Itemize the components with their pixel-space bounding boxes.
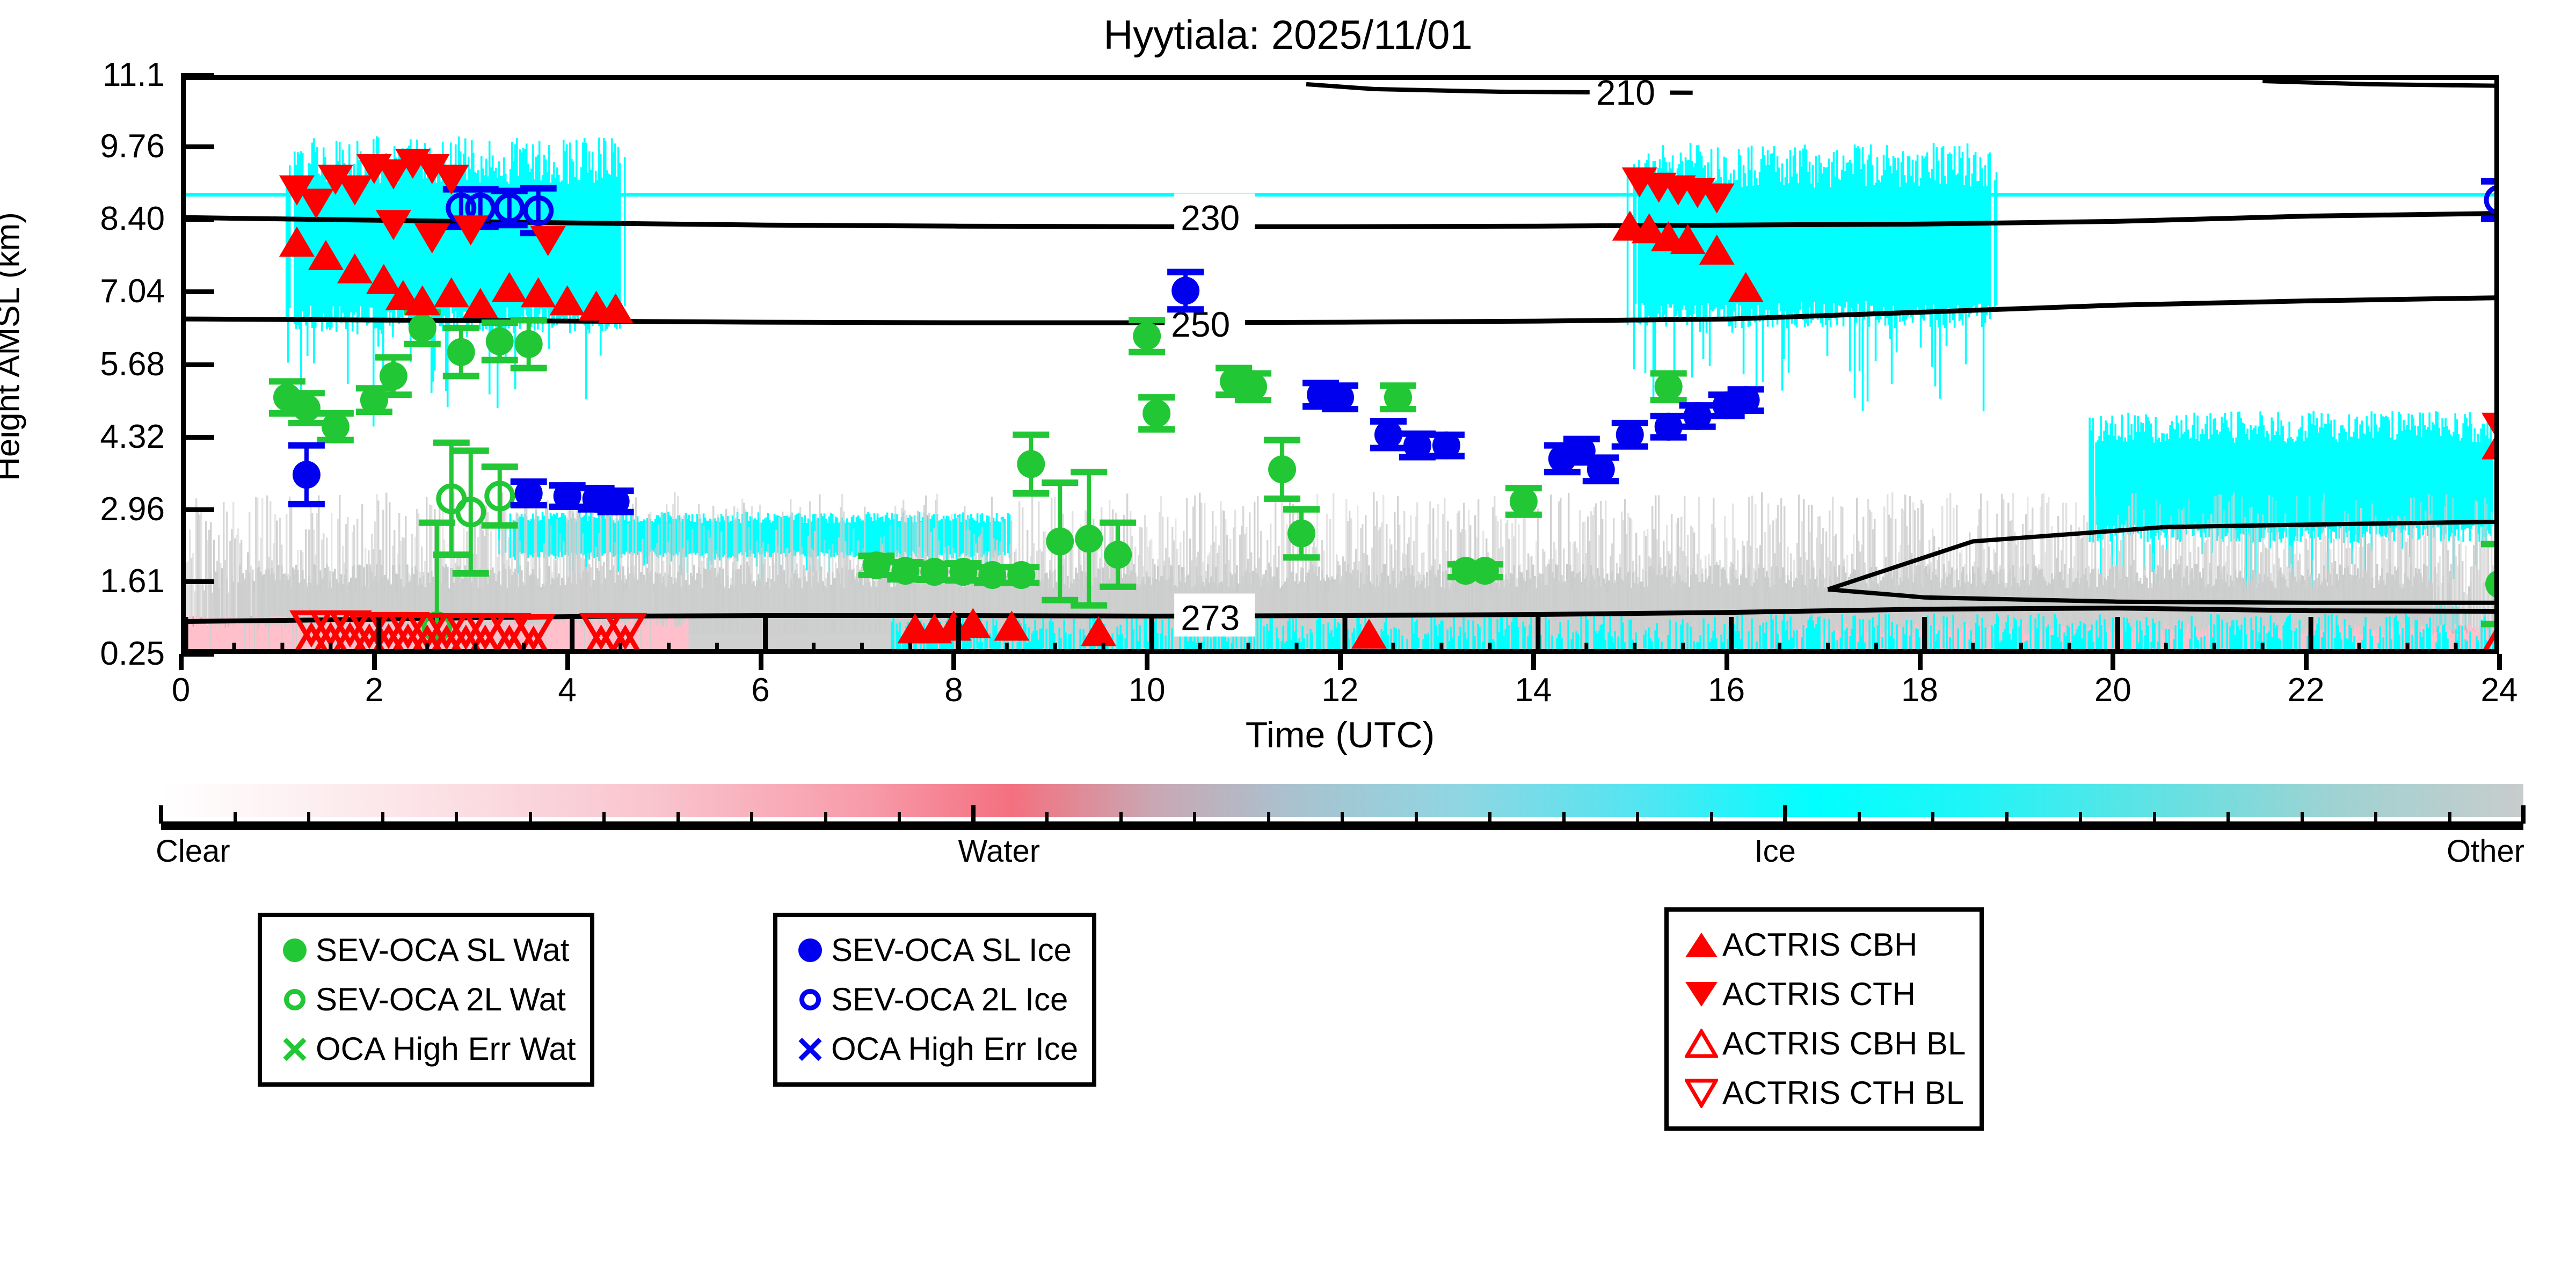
legend-label: OCA High Err Wat [316, 1033, 576, 1065]
y-axis-label: 2.96 [4, 493, 165, 526]
legend-label: ACTRIS CBH [1722, 929, 1917, 961]
colorbar-tick [1636, 812, 1639, 824]
colorbar-tick [1045, 812, 1049, 824]
legend-label: OCA High Err Ice [831, 1033, 1078, 1065]
triangle-up-icon [1685, 933, 1718, 957]
figure-root: Hyytiala: 2025/11/01 210230250273 11.19.… [0, 0, 2576, 1288]
legend-item[interactable]: SEV-OCA 2L Wat [274, 975, 576, 1024]
colorbar: ClearWaterIceOther [161, 784, 2523, 854]
x-axis-tick [1145, 654, 1149, 670]
x-axis-tick [759, 654, 763, 670]
x-axis-label: 12 [1286, 671, 1394, 710]
colorbar-label: Other [2447, 833, 2524, 869]
x-axis-label: 0 [127, 671, 235, 710]
plot-canvas: 210230250273 [186, 80, 2494, 649]
colorbar-tick [1858, 812, 1861, 824]
open-circle-icon [284, 989, 305, 1010]
legend-item[interactable]: SEV-OCA SL Wat [274, 926, 576, 975]
legend-label: ACTRIS CTH BL [1722, 1077, 1964, 1109]
water-legend[interactable]: SEV-OCA SL WatSEV-OCA 2L WatOCA High Err… [258, 913, 594, 1087]
y-axis-label: 9.76 [4, 130, 165, 163]
x-axis-label: 4 [514, 671, 621, 710]
y-axis-label: 11.1 [4, 59, 165, 92]
legend-item[interactable]: ACTRIS CBH [1680, 920, 1966, 970]
colorbar-tick [1710, 812, 1713, 824]
x-axis-tick [2497, 654, 2502, 670]
x-axis-tick [1724, 654, 1729, 670]
legend-item[interactable]: ACTRIS CTH BL [1680, 1068, 1966, 1118]
colorbar-tick [750, 812, 753, 824]
legend-label: SEV-OCA SL Ice [831, 934, 1072, 966]
open-circle-icon [799, 989, 821, 1010]
legend-label: SEV-OCA 2L Wat [316, 984, 566, 1016]
legend-marker [1680, 1029, 1722, 1059]
legend-item[interactable]: ACTRIS CTH [1680, 970, 1966, 1019]
legend-label: ACTRIS CBH BL [1722, 1028, 1966, 1060]
x-axis-label: 6 [707, 671, 814, 710]
colorbar-tick [381, 812, 384, 824]
filled-circle-icon [283, 938, 307, 962]
legend-item[interactable]: SEV-OCA 2L Ice [789, 975, 1078, 1024]
colorbar-tick [2079, 812, 2082, 824]
x-axis-tick [1338, 654, 1343, 670]
legend-marker [274, 1035, 316, 1063]
colorbar-tick [2521, 805, 2526, 824]
colorbar-tick [1783, 805, 1787, 824]
legend-marker [789, 989, 831, 1010]
colorbar-tick [2448, 812, 2451, 824]
colorbar-tick [1119, 812, 1123, 824]
legend-marker [274, 938, 316, 962]
open-triangle-down-icon [1685, 1078, 1718, 1108]
y-axis-label: 8.40 [4, 202, 165, 236]
colorbar-tick [1193, 812, 1196, 824]
colorbar-tick [1341, 812, 1344, 824]
x-axis-label: 20 [2059, 671, 2166, 710]
colorbar-tick [307, 812, 310, 824]
y-axis-label: 5.68 [4, 348, 165, 381]
legend-label: SEV-OCA 2L Ice [831, 984, 1068, 1016]
x-axis-title: Time (UTC) [181, 714, 2499, 756]
colorbar-tick [1562, 812, 1566, 824]
x-axis-tick [1918, 654, 1923, 670]
x-axis-label: 2 [321, 671, 428, 710]
colorbar-tick [455, 812, 458, 824]
y-axis-label: 4.32 [4, 420, 165, 454]
x-axis-tick [179, 654, 184, 670]
colorbar-label: Ice [1755, 833, 1796, 869]
legend-marker [1680, 982, 1722, 1007]
x-axis-tick [2111, 654, 2115, 670]
colorbar-tick [1267, 812, 1270, 824]
colorbar-tick [1415, 812, 1418, 824]
legend-item[interactable]: ACTRIS CBH BL [1680, 1019, 1966, 1068]
x-axis-label: 10 [1093, 671, 1200, 710]
legend-item[interactable]: SEV-OCA SL Ice [789, 926, 1078, 975]
colorbar-tick [234, 812, 237, 824]
legend-label: SEV-OCA SL Wat [316, 934, 569, 966]
legend-marker [789, 1035, 831, 1063]
y-axis-title: Height AMSL (km) [0, 25, 27, 669]
colorbar-tick [898, 812, 901, 824]
x-axis-tick [565, 654, 570, 670]
colorbar-tick [159, 805, 163, 824]
colorbar-tick [2226, 812, 2230, 824]
main-plot-area[interactable]: 210230250273 [181, 75, 2499, 654]
colorbar-tick [1488, 812, 1491, 824]
plot-clip: 210230250273 [186, 80, 2494, 649]
triangle-down-icon [1685, 982, 1718, 1007]
x-axis-label: 22 [2252, 671, 2360, 710]
y-axis-label: 1.61 [4, 565, 165, 598]
colorbar-tick [1931, 812, 1934, 824]
x-axis-tick [372, 654, 377, 670]
legend-marker [274, 989, 316, 1010]
x-axis-label: 8 [900, 671, 1007, 710]
x-axis-label: 16 [1673, 671, 1780, 710]
x-axis-tick [2304, 654, 2309, 670]
x-axis-tick [951, 654, 956, 670]
legend-marker [789, 938, 831, 962]
colorbar-tick [2005, 812, 2009, 824]
colorbar-tick [602, 812, 606, 824]
x-axis-label: 18 [1866, 671, 1974, 710]
cross-icon [796, 1035, 824, 1063]
legend-marker [1680, 933, 1722, 957]
y-axis-label: 0.25 [4, 637, 165, 671]
legend-label: ACTRIS CTH [1722, 978, 1916, 1010]
open-triangle-up-icon [1685, 1029, 1718, 1059]
cross-icon [281, 1035, 309, 1063]
colorbar-tick [2153, 812, 2156, 824]
x-axis-label: 14 [1480, 671, 1587, 710]
colorbar-label: Clear [156, 833, 230, 869]
y-axis-label: 7.04 [4, 275, 165, 308]
colorbar-tick [676, 812, 680, 824]
colorbar-label: Water [958, 833, 1040, 869]
colorbar-tick [824, 812, 827, 824]
x-axis-tick [1531, 654, 1536, 670]
page-title: Hyytiala: 2025/11/01 [0, 12, 2576, 59]
legend-marker [1680, 1078, 1722, 1108]
filled-circle-icon [798, 938, 822, 962]
legend-item[interactable]: OCA High Err Wat [274, 1024, 576, 1074]
ice-legend[interactable]: SEV-OCA SL IceSEV-OCA 2L IceOCA High Err… [773, 913, 1096, 1087]
colorbar-tick [2374, 812, 2377, 824]
legend-item[interactable]: OCA High Err Ice [789, 1024, 1078, 1074]
colorbar-tick [971, 805, 976, 824]
x-axis-label: 24 [2446, 671, 2553, 710]
colorbar-tick [2301, 812, 2304, 824]
colorbar-tick [529, 812, 532, 824]
actris-legend[interactable]: ACTRIS CBHACTRIS CTHACTRIS CBH BLACTRIS … [1664, 907, 1984, 1131]
